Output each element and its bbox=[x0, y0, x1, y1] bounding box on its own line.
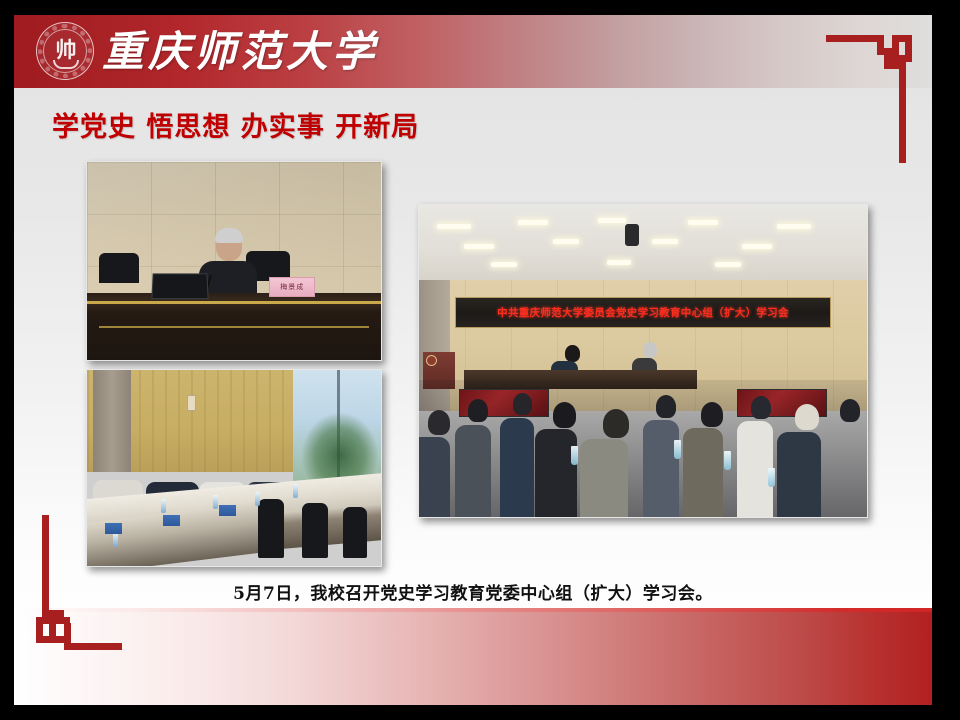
photo-table-chair-3 bbox=[343, 507, 367, 558]
photo-podium-desk-trim bbox=[87, 301, 381, 304]
photo-table bbox=[86, 369, 382, 567]
corner-ornament-bottom-left bbox=[36, 515, 128, 657]
photo-podium: 梅景成 bbox=[86, 161, 382, 361]
photo-podium-nameplate-text: 梅景成 bbox=[270, 278, 314, 296]
photo-hall-podium-seal bbox=[426, 355, 437, 366]
photo-podium-nameplate: 梅景成 bbox=[269, 277, 315, 297]
screenshot-viewport: 帅 重庆师范大学 bbox=[0, 0, 960, 720]
photo-podium-desk-trim-2 bbox=[99, 326, 370, 328]
photo-table-chair-1 bbox=[258, 499, 284, 558]
photo-hall-ceiling bbox=[419, 205, 867, 280]
slide-footer-band bbox=[14, 612, 932, 705]
presentation-slide: 帅 重庆师范大学 bbox=[14, 15, 932, 705]
photo-podium-laptop bbox=[151, 273, 208, 299]
photo-hall-projector bbox=[625, 224, 639, 246]
corner-ornament-top-right bbox=[826, 29, 918, 169]
photo-podium-chair-left bbox=[99, 253, 139, 283]
photo-table-chair-2 bbox=[302, 503, 328, 558]
photo-hall: 中共重庆师范大学委员会党史学习教育中心组（扩大）学习会 bbox=[418, 204, 868, 518]
photo-hall-banner-text: 中共重庆师范大学委员会党史学习教育中心组（扩大）学习会 bbox=[456, 298, 830, 327]
photo-hall-led-banner: 中共重庆师范大学委员会党史学习教育中心组（扩大）学习会 bbox=[455, 297, 831, 328]
photo-hall-speaker-2-head bbox=[643, 342, 657, 358]
slide-caption: 5月7日，我校召开党史学习教育党委中心组（扩大）学习会。 bbox=[14, 581, 932, 607]
photo-podium-speaker-hair bbox=[215, 228, 243, 243]
university-seal-logo: 帅 bbox=[36, 22, 96, 82]
photo-hall-speaker-1-head bbox=[565, 345, 580, 362]
seal-emblem-glyph: 帅 bbox=[56, 40, 77, 61]
photo-hall-audience bbox=[419, 380, 867, 517]
slide-header-band: 帅 重庆师范大学 bbox=[14, 15, 932, 88]
university-name-calligraphy: 重庆师范大学 bbox=[102, 23, 378, 81]
photo-podium-desk bbox=[87, 293, 381, 360]
photo-table-wall-plaque bbox=[187, 395, 196, 411]
slide-headline: 学党史 悟思想 办实事 开新局 bbox=[52, 110, 419, 146]
